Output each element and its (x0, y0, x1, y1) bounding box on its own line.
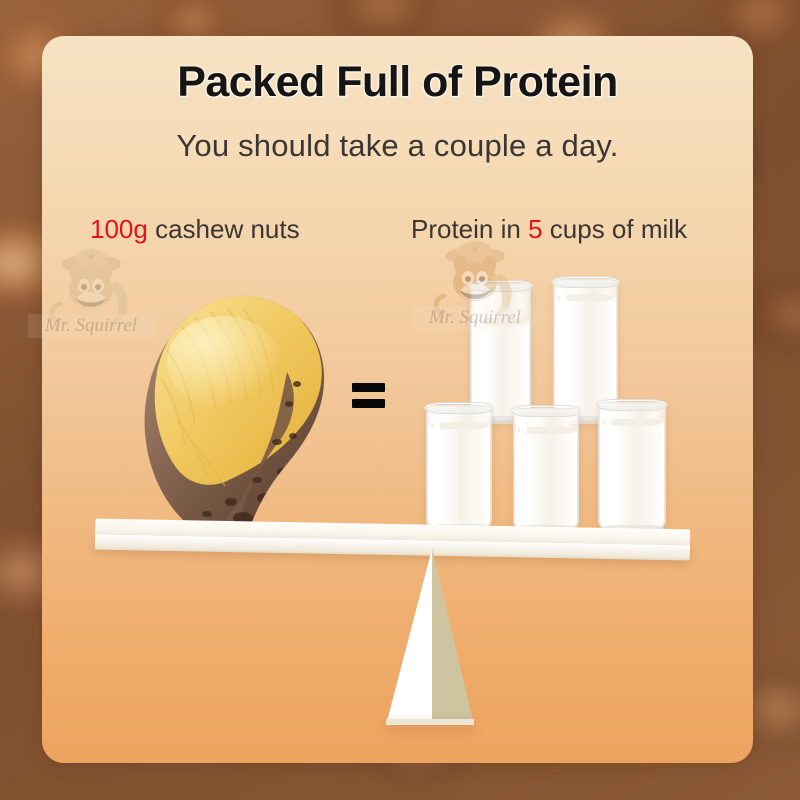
fulcrum-base (386, 719, 474, 725)
milk-glass-top-left (470, 283, 531, 421)
glass-rim (468, 280, 533, 292)
glass-rim (596, 399, 668, 411)
fulcrum-left-face (386, 549, 432, 725)
left-quantity-label: 100g cashew nuts (90, 214, 300, 245)
equals-bar-bottom (352, 399, 385, 408)
right-suffix-text: cups of milk (543, 214, 688, 244)
equals-sign-icon (352, 383, 385, 409)
glass-rim (551, 276, 620, 288)
equals-bar-top (352, 383, 385, 392)
milk-glass-bottom-left (426, 405, 492, 529)
infographic-canvas: Packed Full of Protein You should take a… (0, 0, 800, 800)
triangular-fulcrum (386, 549, 496, 725)
cashew-nut-image (137, 292, 342, 547)
infographic-card: Packed Full of Protein You should take a… (42, 36, 753, 763)
glass-highlight (433, 415, 440, 515)
right-prefix-text: Protein in (411, 214, 528, 244)
glass-highlight (477, 293, 484, 407)
glass-rim (511, 405, 581, 417)
page-subtitle: You should take a couple a day. (42, 128, 753, 164)
glass-rim (424, 402, 494, 414)
left-amount-value: 100g (90, 214, 148, 244)
milk-glass-bottom-center (513, 408, 579, 530)
page-title: Packed Full of Protein (42, 58, 753, 107)
milk-glass-bottom-right (598, 402, 666, 530)
right-amount-value: 5 (528, 214, 542, 244)
fulcrum-right-face (432, 549, 474, 725)
right-quantity-label: Protein in 5 cups of milk (411, 214, 687, 245)
glass-highlight (605, 412, 612, 516)
glass-highlight (520, 418, 527, 516)
glass-highlight (560, 289, 567, 407)
left-item-text: cashew nuts (148, 214, 300, 244)
